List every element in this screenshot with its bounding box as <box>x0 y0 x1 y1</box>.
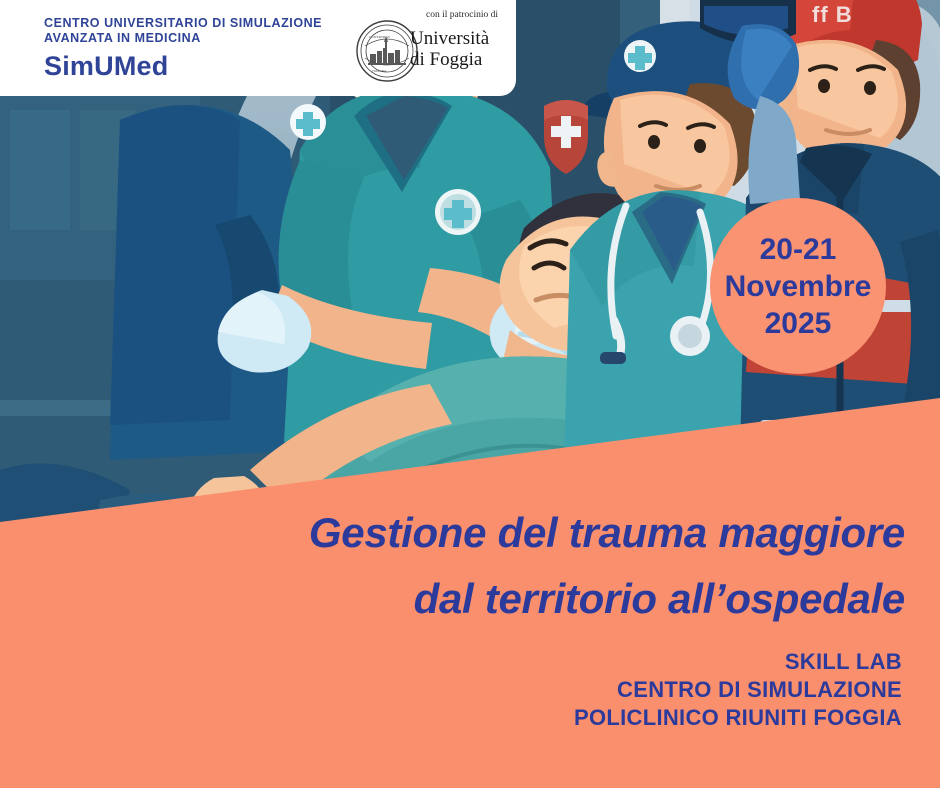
org-line-2: AVANZATA IN MEDICINA <box>44 31 201 45</box>
event-date-badge: 20-21 Novembre 2025 <box>710 198 886 374</box>
svg-text:FODIANA: FODIANA <box>372 69 387 73</box>
date-month: Novembre <box>725 268 872 305</box>
patronage-label: con il patrocinio di <box>412 10 512 20</box>
logo-header-box: CENTRO UNIVERSITARIO DI SIMULAZIONE AVAN… <box>0 0 516 96</box>
patronage-university-name: Università di Foggia <box>410 28 514 70</box>
venue-line-1: SKILL LAB <box>0 648 902 676</box>
venue-line-2: CENTRO DI SIMULAZIONE <box>0 676 902 704</box>
date-year: 2025 <box>765 305 832 342</box>
svg-text:UNIVERSITAS: UNIVERSITAS <box>369 35 390 39</box>
venue-block: SKILL LAB CENTRO DI SIMULAZIONE POLICLIN… <box>0 648 902 732</box>
org-line-1: CENTRO UNIVERSITARIO DI SIMULAZIONE <box>44 16 322 30</box>
brand-name: SimUMed <box>44 51 344 81</box>
date-days: 20-21 <box>760 231 837 268</box>
university-seal-icon: UNIVERSITAS FODIANA <box>356 20 418 82</box>
university-line-2: di Foggia <box>410 49 482 70</box>
event-title-line-1: Gestione del trauma maggiore <box>0 500 905 566</box>
venue-line-3: POLICLINICO RIUNITI FOGGIA <box>0 704 902 732</box>
event-poster: ff B <box>0 0 940 788</box>
simumed-logo: CENTRO UNIVERSITARIO DI SIMULAZIONE AVAN… <box>44 16 344 81</box>
svg-text:ff B: ff B <box>812 2 853 27</box>
event-title: Gestione del trauma maggiore dal territo… <box>0 500 905 632</box>
patronage-block: UNIVERSITAS FODIANA con il patrocinio di… <box>350 8 510 90</box>
event-title-line-2: dal territorio all’ospedale <box>0 566 905 632</box>
university-line-1: Università <box>410 28 489 49</box>
